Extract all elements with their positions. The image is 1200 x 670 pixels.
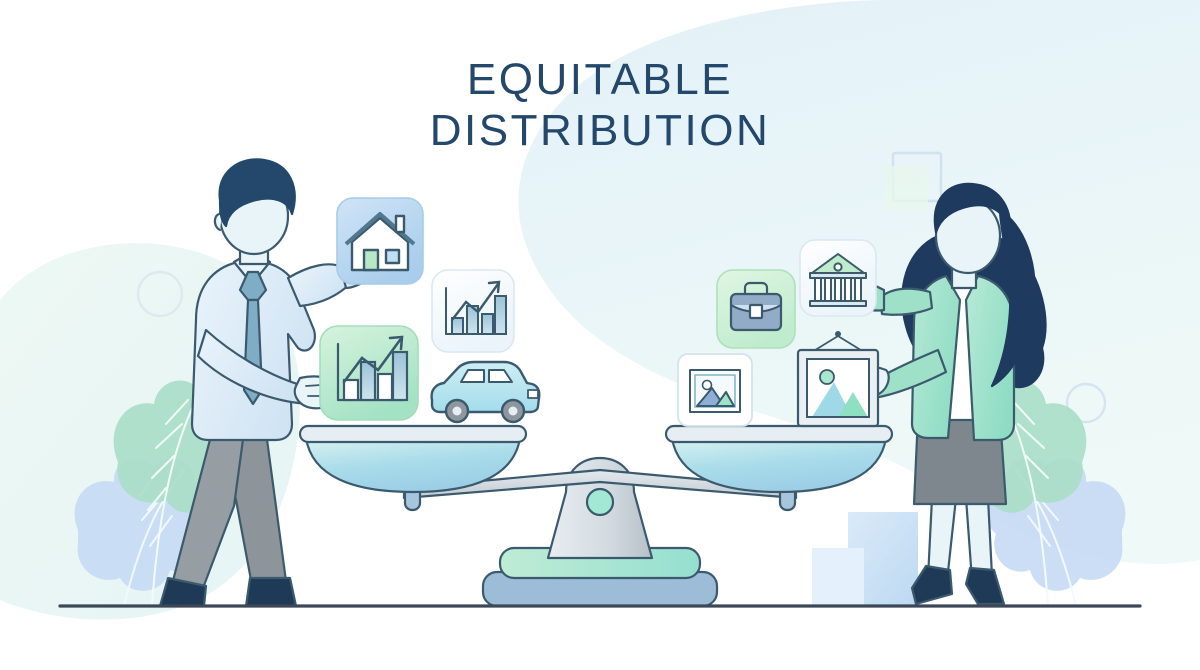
asset-artwork-small[interactable]: [678, 354, 752, 426]
man-shoe-back: [246, 578, 296, 606]
car-wheel-front-hub: [453, 407, 462, 416]
asset-tile-house[interactable]: [337, 198, 423, 284]
artwork-sun: [820, 370, 834, 384]
frame-hook: [835, 331, 841, 337]
scale-pivot: [587, 489, 613, 515]
scale-pan-left-rim: [300, 426, 526, 442]
balance-scale: [300, 426, 892, 606]
green-square-accent: [884, 166, 928, 210]
asset-tile-growth-green[interactable]: [320, 326, 418, 420]
building-short: [812, 548, 864, 605]
woman-shoe-back: [966, 568, 1004, 604]
equitable-distribution-illustration: [0, 0, 1200, 670]
scale-pan-right-rim: [666, 426, 892, 442]
car-headlight: [528, 390, 538, 398]
house-door: [364, 250, 378, 270]
house-window: [386, 250, 399, 263]
asset-tile-briefcase[interactable]: [717, 270, 795, 348]
car-wheel-rear-hub: [509, 407, 518, 416]
illustration-canvas: EQUITABLE DISTRIBUTION: [0, 0, 1200, 670]
asset-car[interactable]: [432, 362, 540, 422]
woman-arm-upper-raised: [880, 289, 932, 315]
asset-tile-growth-white[interactable]: [432, 270, 514, 352]
asset-tile-bank[interactable]: [800, 240, 876, 316]
picture-icon-small: [690, 370, 740, 412]
